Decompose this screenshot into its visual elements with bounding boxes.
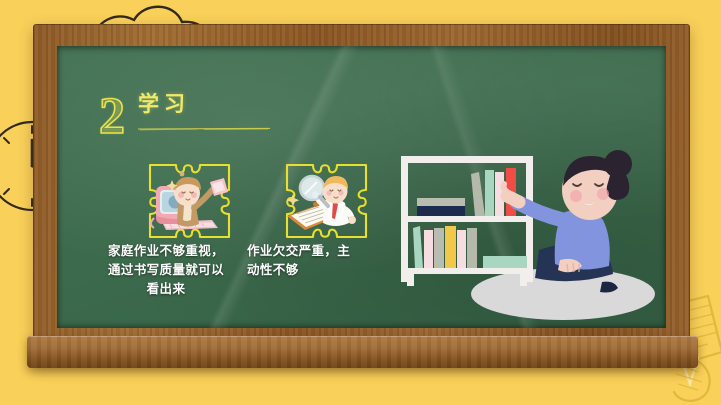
caption-homework-quality: 家庭作业不够重视，通过书写质量就可以看出来: [107, 242, 225, 299]
section-title: 学习: [138, 88, 270, 118]
bookshelf: [401, 156, 533, 286]
section-heading: 2 学习: [99, 88, 270, 139]
chalkboard-surface: 2 学习: [57, 46, 666, 328]
girl-reaching-for-book-illustration: [387, 142, 666, 324]
boy-with-magnifier-over-clipboard-icon: [279, 160, 374, 242]
section-title-group: 学习: [138, 88, 270, 139]
child-at-computer-holding-paper-icon: [142, 160, 237, 242]
chalk-underline-icon: [138, 127, 270, 131]
caption-homework-submission: 作业欠交严重，主动性不够: [247, 242, 359, 280]
section-number: 2: [99, 96, 125, 139]
puzzle-card-homework-quality[interactable]: [142, 160, 237, 242]
blackboard-assembly: 2 学习: [33, 24, 690, 364]
chalk-tray: [27, 336, 698, 368]
puzzle-card-homework-submission[interactable]: [279, 160, 374, 242]
